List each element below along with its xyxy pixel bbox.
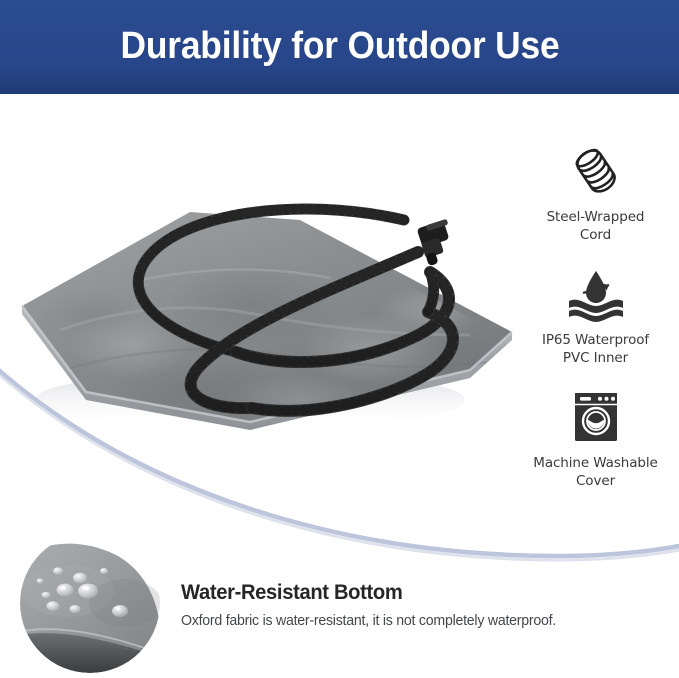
bottom-heading: Water-Resistant Bottom: [181, 581, 651, 604]
oxford-fabric-water-beads-photo: [20, 533, 160, 673]
steel-coil-icon: [512, 140, 679, 202]
feature-label-line2: PVC Inner: [563, 350, 628, 366]
cord-connector: [417, 219, 450, 267]
feature-item-ip65-waterproof: IP65 Waterproof PVC Inner: [512, 263, 679, 368]
feature-label-line1: IP65 Waterproof: [542, 332, 649, 348]
product-photo: [0, 100, 530, 430]
feature-label-line1: Steel-Wrapped: [547, 209, 645, 225]
feature-label-line2: Cover: [576, 473, 615, 489]
feature-label-ip65-waterproof: IP65 Waterproof PVC Inner: [512, 332, 679, 368]
feature-label-line1: Machine Washable: [533, 455, 657, 471]
bottom-text-block: Water-Resistant Bottom Oxford fabric is …: [181, 581, 671, 630]
waterproof-layers-icon: [512, 263, 679, 325]
feature-label-line2: Cord: [580, 227, 611, 243]
feature-item-machine-washable: Machine Washable Cover: [512, 386, 679, 491]
bottom-description: Oxford fabric is water-resistant, it is …: [181, 612, 656, 630]
heating-pad-illustration: [0, 100, 530, 430]
feature-label-machine-washable: Machine Washable Cover: [512, 455, 679, 491]
feature-item-steel-wrapped-cord: Steel-Wrapped Cord: [512, 140, 679, 245]
feature-label-steel-wrapped-cord: Steel-Wrapped Cord: [512, 209, 679, 245]
washing-machine-icon: [512, 386, 679, 448]
feature-list: Steel-Wrapped Cord IP65 Wat: [512, 140, 679, 509]
bottom-section: Water-Resistant Bottom Oxford fabric is …: [0, 525, 679, 673]
page-title: Durability for Outdoor Use: [120, 27, 559, 65]
header-banner: Durability for Outdoor Use: [0, 0, 679, 94]
